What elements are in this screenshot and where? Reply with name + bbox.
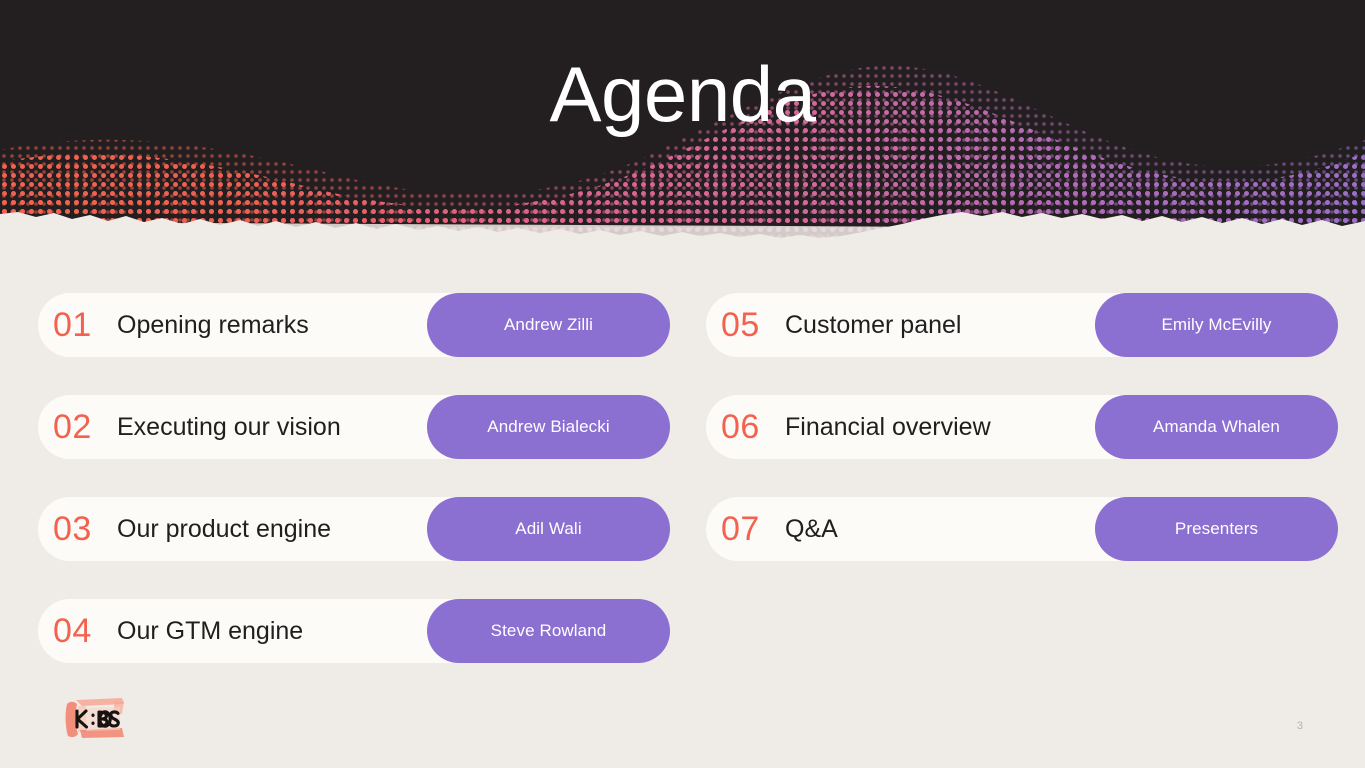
agenda-item-06[interactable]: 06 Financial overview Amanda Whalen [706,395,1338,459]
agenda-label: Our GTM engine [117,619,303,644]
agenda-label: Financial overview [785,415,991,440]
slide-header: Agenda [0,0,1365,238]
presenter-pill[interactable]: Steve Rowland [427,599,670,663]
kbos-logo-icon [62,692,132,744]
page-number: 3 [1283,720,1303,732]
agenda-item-05[interactable]: 05 Customer panel Emily McEvilly [706,293,1338,357]
agenda-label: Executing our vision [117,415,341,440]
presenter-pill[interactable]: Emily McEvilly [1095,293,1338,357]
agenda-label: Q&A [785,517,838,542]
agenda-number: 01 [53,308,107,342]
presenter-pill[interactable]: Presenters [1095,497,1338,561]
brand-logo [62,692,132,744]
agenda-item-01[interactable]: 01 Opening remarks Andrew Zilli [38,293,670,357]
agenda-label: Opening remarks [117,313,309,338]
agenda-item-03[interactable]: 03 Our product engine Adil Wali [38,497,670,561]
agenda-number: 06 [721,410,775,444]
agenda-slide: Agenda 01 Opening remarks Andrew Zilli 0… [0,0,1365,768]
agenda-number: 02 [53,410,107,444]
agenda-item-07[interactable]: 07 Q&A Presenters [706,497,1338,561]
presenter-pill[interactable]: Andrew Bialecki [427,395,670,459]
presenter-pill[interactable]: Adil Wali [427,497,670,561]
agenda-list: 01 Opening remarks Andrew Zilli 02 Execu… [0,293,1365,673]
agenda-number: 07 [721,512,775,546]
agenda-number: 04 [53,614,107,648]
presenter-pill[interactable]: Andrew Zilli [427,293,670,357]
agenda-label: Customer panel [785,313,961,338]
agenda-item-02[interactable]: 02 Executing our vision Andrew Bialecki [38,395,670,459]
agenda-number: 05 [721,308,775,342]
agenda-number: 03 [53,512,107,546]
agenda-label: Our product engine [117,517,331,542]
particle-wave-graphic [0,0,1365,238]
agenda-column-right: 05 Customer panel Emily McEvilly 06 Fina… [706,293,1338,599]
agenda-item-04[interactable]: 04 Our GTM engine Steve Rowland [38,599,670,663]
agenda-column-left: 01 Opening remarks Andrew Zilli 02 Execu… [38,293,670,701]
presenter-pill[interactable]: Amanda Whalen [1095,395,1338,459]
